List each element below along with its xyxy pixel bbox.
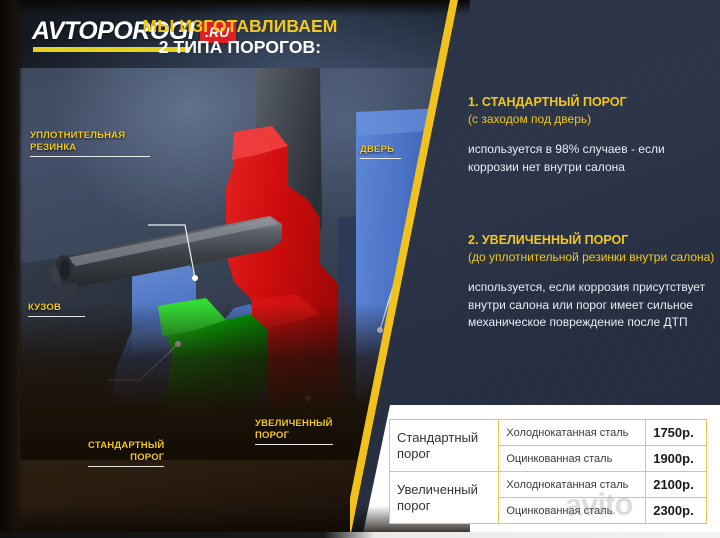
label-standard-sill-line2: ПОРОГ	[130, 452, 164, 463]
table-row: Увеличенный порог Холоднокатанная сталь …	[390, 472, 707, 498]
bottom-strip	[0, 532, 720, 538]
price-row-name: Увеличенный порог	[390, 472, 499, 524]
label-standard-sill-line1: СТАНДАРТНЫЙ	[88, 440, 164, 451]
price-row-material: Холоднокатанная сталь	[499, 472, 646, 498]
headline: МЫ ИЗГОТАВЛИВАЕМ 2 ТИПА ПОРОГОВ:	[118, 16, 362, 57]
price-row-name: Стандартный порог	[390, 420, 499, 472]
label-enlarged-sill-line1: УВЕЛИЧЕННЫЙ	[255, 418, 333, 429]
label-enlarged-sill: УВЕЛИЧЕННЫЙ ПОРОГ	[255, 418, 333, 445]
info-block-standard-title: 1. СТАНДАРТНЫЙ ПОРОГ	[468, 93, 718, 111]
label-standard-sill: СТАНДАРТНЫЙ ПОРОГ	[88, 440, 164, 467]
price-row-price: 1750р.	[646, 420, 707, 446]
label-seal-rubber-line1: УПЛОТНИТЕЛЬНАЯ	[30, 130, 125, 141]
info-block-enlarged-title: 2. УВЕЛИЧЕННЫЙ ПОРОГ	[468, 231, 718, 249]
price-row-price: 2300р.	[646, 498, 707, 524]
info-block-enlarged-body: используется, если коррозия присутствует…	[468, 279, 718, 331]
price-row-price: 1900р.	[646, 446, 707, 472]
price-table: Стандартный порог Холоднокатанная сталь …	[389, 419, 707, 524]
table-row: Стандартный порог Холоднокатанная сталь …	[390, 420, 707, 446]
price-row-material: Холоднокатанная сталь	[499, 420, 646, 446]
price-row-material: Оцинкованная сталь	[499, 498, 646, 524]
info-block-enlarged: 2. УВЕЛИЧЕННЫЙ ПОРОГ (до уплотнительной …	[468, 231, 718, 331]
info-block-standard-body: используется в 98% случаев - если корроз…	[468, 141, 718, 176]
headline-line1: МЫ ИЗГОТАВЛИВАЕМ	[118, 16, 362, 37]
headline-line2: 2 ТИПА ПОРОГОВ:	[118, 37, 362, 58]
price-row-material: Оцинкованная сталь	[499, 446, 646, 472]
info-block-enlarged-subtitle: (до уплотнительной резинки внутри салона…	[468, 249, 718, 265]
label-seal-rubber: УПЛОТНИТЕЛЬНАЯ РЕЗИНКА	[30, 130, 150, 157]
label-seal-rubber-line2: РЕЗИНКА	[30, 142, 76, 153]
ad-image: AVTOPOROGI .RU	[0, 0, 720, 538]
label-enlarged-sill-line2: ПОРОГ	[255, 430, 289, 441]
price-row-price: 2100р.	[646, 472, 707, 498]
label-body: КУЗОВ	[28, 302, 85, 317]
label-door: ДВЕРЬ	[360, 144, 401, 159]
info-block-standard-subtitle: (с заходом под дверь)	[468, 111, 718, 127]
info-block-standard: 1. СТАНДАРТНЫЙ ПОРОГ (с заходом под двер…	[468, 93, 718, 176]
